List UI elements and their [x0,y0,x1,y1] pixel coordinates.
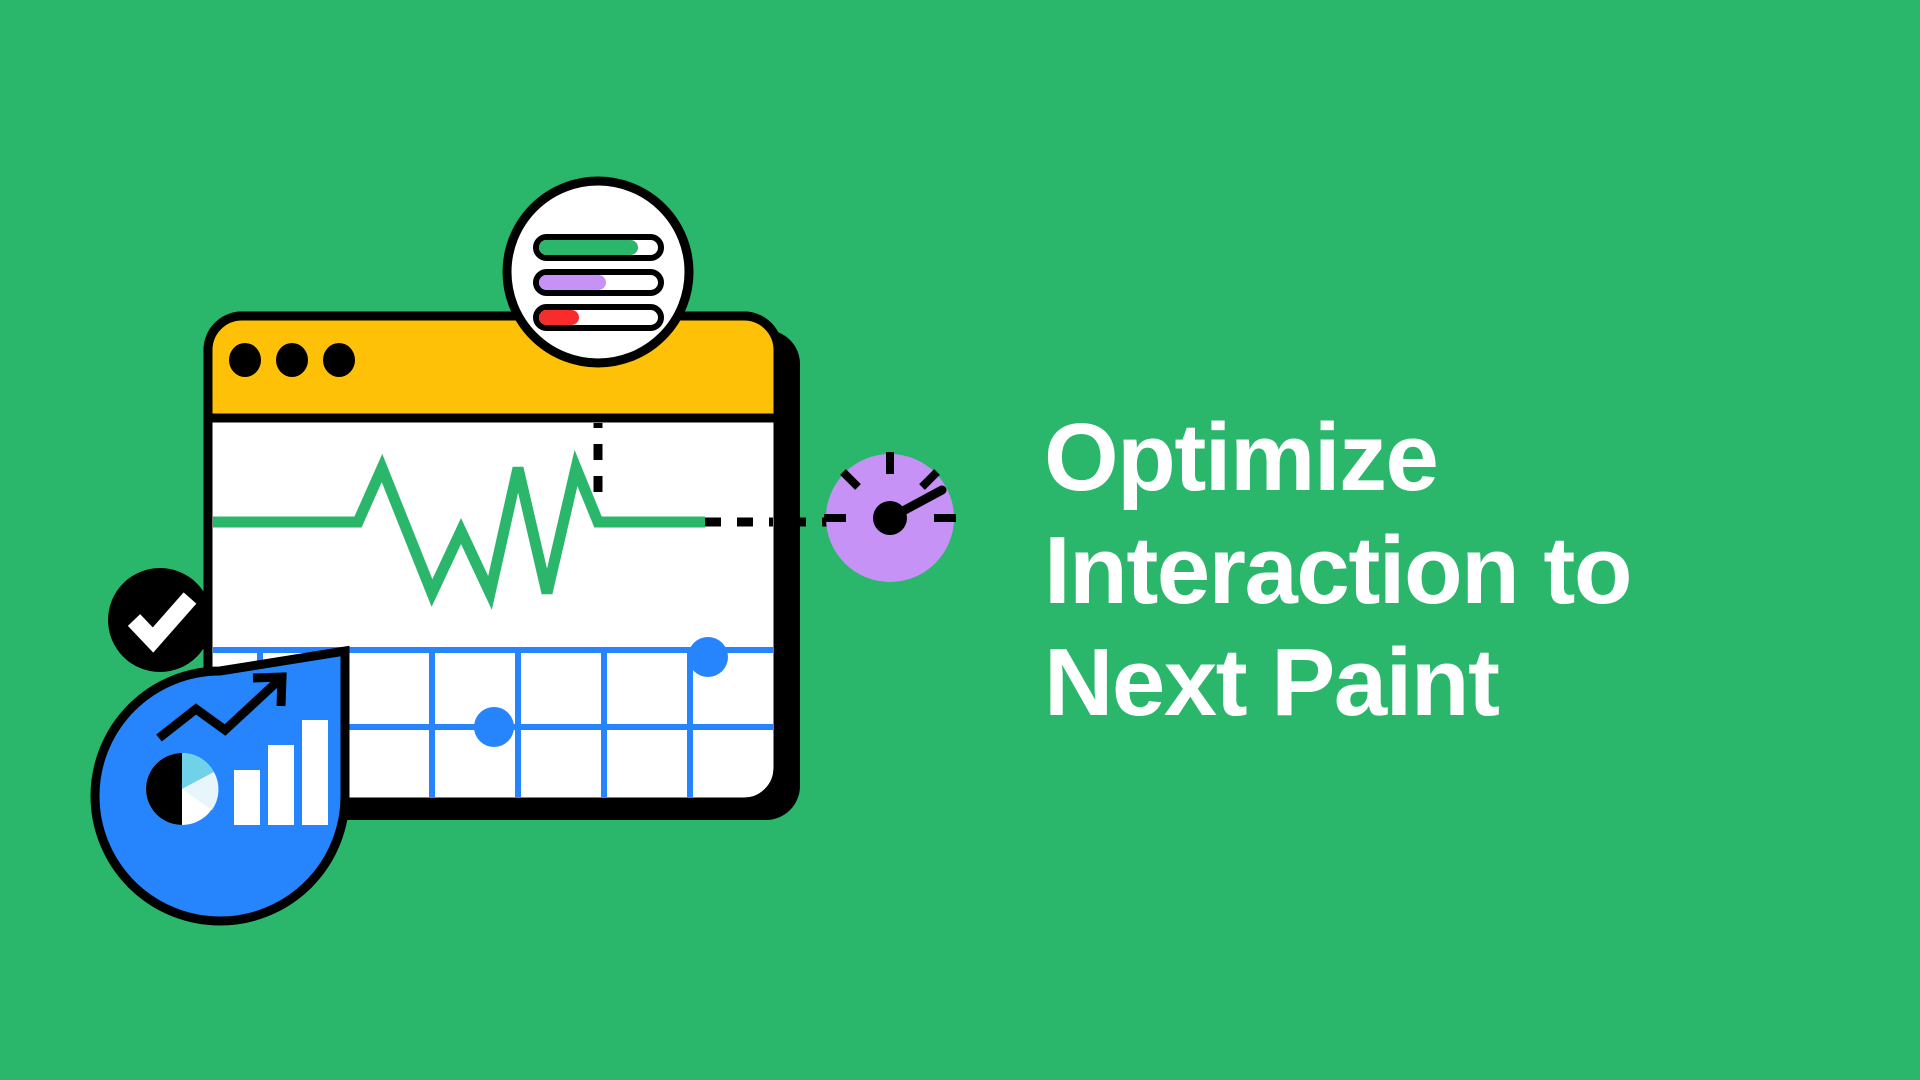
grid-data-point-1[interactable] [474,707,514,747]
pie-chart-icon [146,753,218,825]
traffic-light-dot-2[interactable] [276,343,308,377]
gauge-hub [873,501,907,535]
traffic-light-dot-3[interactable] [323,343,355,377]
headline-line-2: Interaction to [1044,515,1884,627]
metric-bar-green[interactable] [536,237,661,258]
speed-gauge[interactable] [824,452,956,582]
headline-line-1: Optimize [1044,402,1884,514]
check-badge[interactable] [108,568,212,672]
page-title: Optimize Interaction to Next Paint [1044,402,1884,739]
analytics-badge[interactable] [95,651,345,921]
grid-data-point-2[interactable] [688,637,728,677]
traffic-light-dot-1[interactable] [229,343,261,377]
metric-bar-red[interactable] [536,307,661,328]
headline-line-3: Next Paint [1044,627,1884,739]
metric-bar-purple[interactable] [536,272,661,293]
hero-banner: Optimize Interaction to Next Paint [0,0,1920,1080]
metrics-bubble[interactable] [507,181,689,363]
